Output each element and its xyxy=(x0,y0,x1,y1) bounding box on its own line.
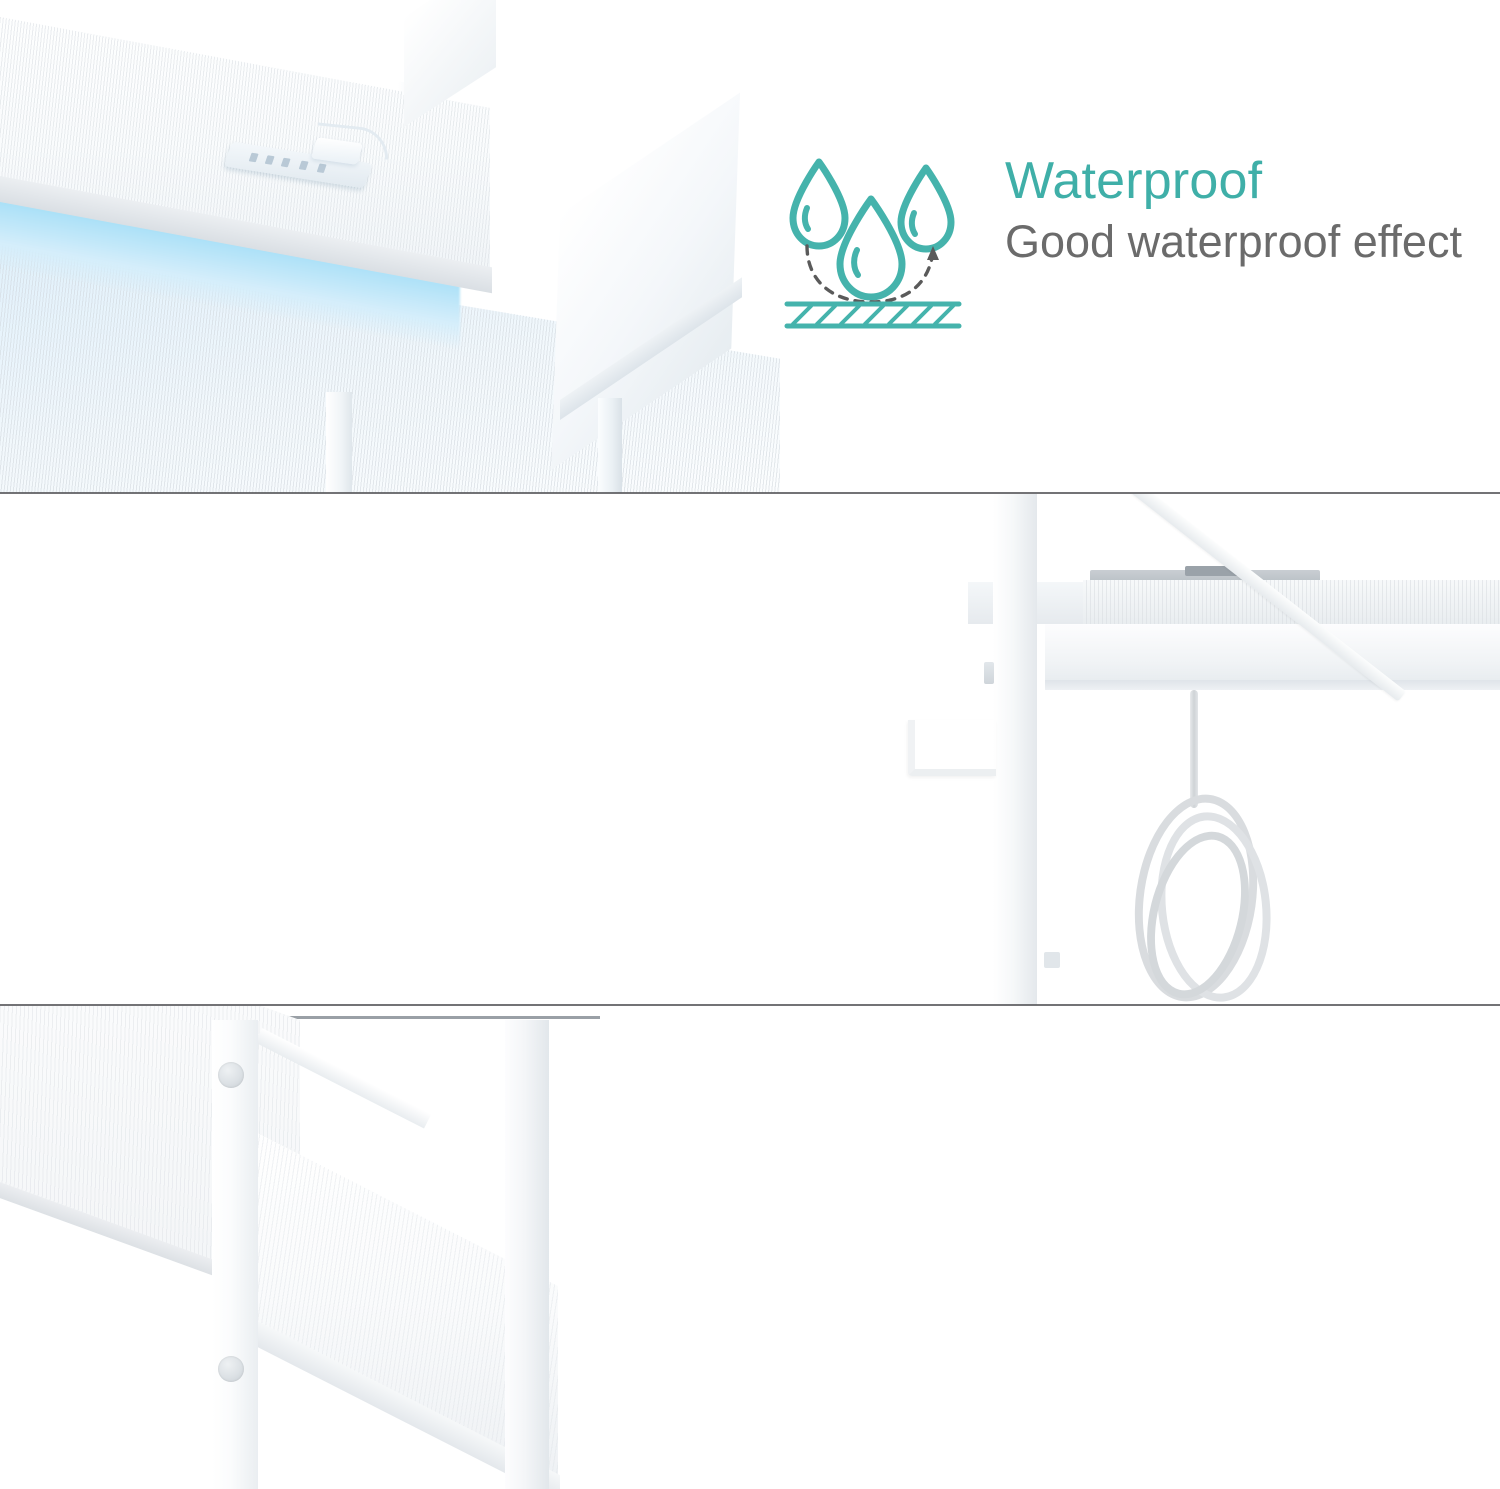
leg-screw xyxy=(218,1062,244,1088)
feature-waterproof: Waterproof Good waterproof effect xyxy=(783,152,1462,330)
infographic-page: Waterproof Good waterproof effect xyxy=(0,0,1500,1489)
panel-waterproof: Waterproof Good waterproof effect xyxy=(0,0,1500,493)
panel-structural: Enhanced Structural Heavy duty metal des… xyxy=(0,494,1500,1005)
panel-legpads: Adjustable Leg Pads Suitable for uneven … xyxy=(0,1006,1500,1489)
water-drops-icon xyxy=(783,152,963,330)
power-strip-port xyxy=(317,163,327,173)
desk-legs-shelf-photo xyxy=(0,1006,1500,1489)
leg-screw xyxy=(218,1356,244,1382)
hanging-power-cord xyxy=(1190,690,1198,808)
desk-underside-brace-photo xyxy=(0,494,1500,1005)
headphone-hook xyxy=(908,720,996,776)
feature-waterproof-text: Waterproof Good waterproof effect xyxy=(1005,152,1462,271)
power-strip-port xyxy=(265,155,275,165)
desk-leg-front xyxy=(326,392,352,493)
desk-apron-shadow xyxy=(1045,680,1500,690)
power-strip-port xyxy=(249,153,259,163)
feature-subtitle: Good waterproof effect xyxy=(1005,213,1462,271)
feature-title: Waterproof xyxy=(1005,154,1462,209)
desk-leg-left xyxy=(212,1020,258,1489)
power-strip-port xyxy=(299,161,309,171)
brace-mounting-foot xyxy=(1044,952,1060,968)
power-strip-port xyxy=(281,158,291,168)
leg-screw xyxy=(984,662,994,684)
desk-leg-post xyxy=(993,494,1037,1005)
desk-leg-right xyxy=(505,1020,549,1489)
desk-leg-right xyxy=(598,398,622,493)
